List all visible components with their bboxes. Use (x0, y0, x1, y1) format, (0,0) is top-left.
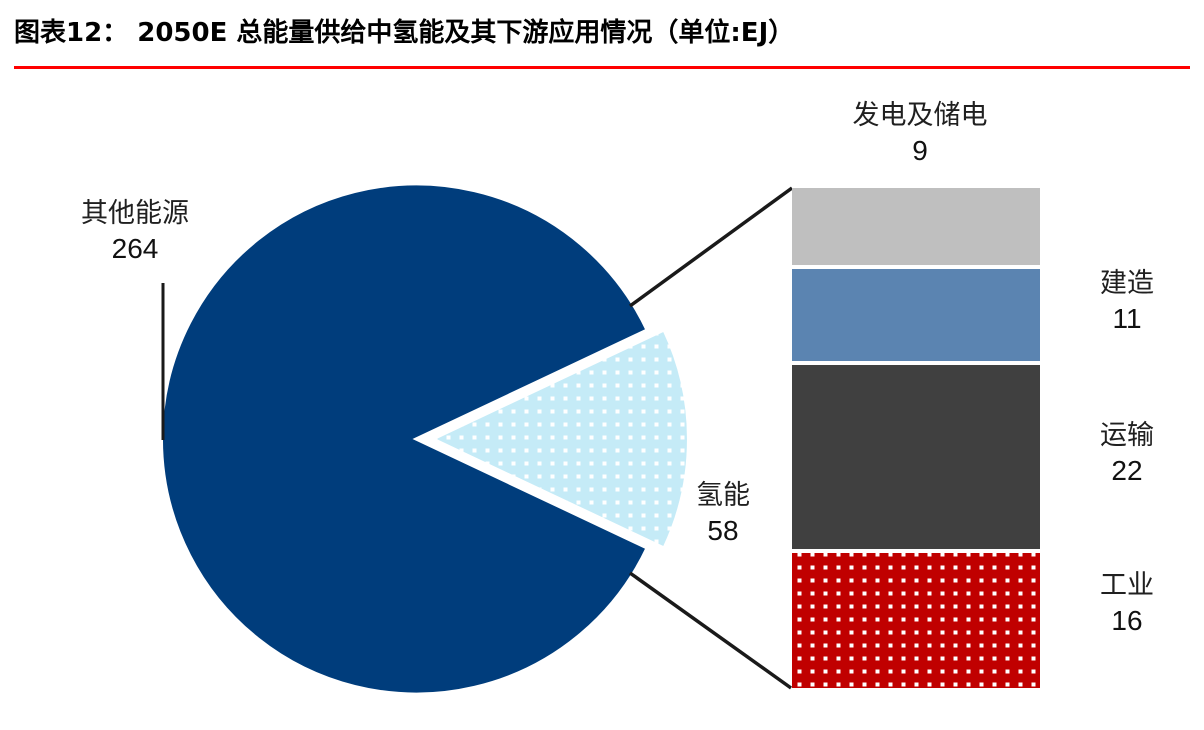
bar-segment-building[interactable] (792, 269, 1040, 361)
figure-root: 图表12： 2050E 总能量供给中氢能及其下游应用情况（单位:EJ） (0, 0, 1204, 730)
figure-header: 图表12： 2050E 总能量供给中氢能及其下游应用情况（单位:EJ） (0, 0, 1204, 80)
connector-line-bottom (630, 573, 791, 688)
chart-plot-area: 其他能源 264 氢能 58 发电及储电 9 建造 11 运输 22 工业 16 (0, 80, 1204, 730)
bar-segment-power-storage[interactable] (792, 188, 1040, 265)
title-divider (14, 66, 1190, 69)
bar-segment-transport[interactable] (792, 365, 1040, 549)
bar-segment-industry[interactable] (792, 553, 1040, 688)
connector-line-top (630, 188, 792, 306)
chart-graphic (0, 80, 1204, 730)
breakdown-bar-stack (792, 188, 1040, 688)
page-title: 图表12： 2050E 总能量供给中氢能及其下游应用情况（单位:EJ） (14, 16, 794, 50)
